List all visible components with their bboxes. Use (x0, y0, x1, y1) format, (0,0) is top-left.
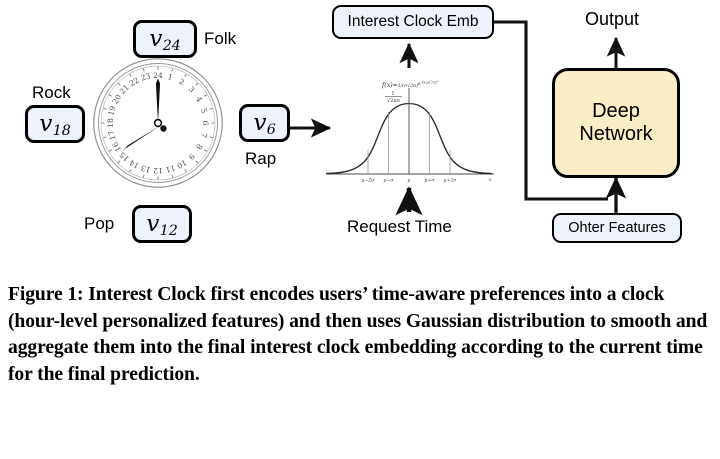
figure-caption: Figure 1: Interest Clock first encodes u… (8, 282, 712, 388)
other-features-label: Ohter Features (568, 221, 666, 236)
interest-clock-face: 123456789101112131415161718192021222324 (91, 56, 225, 190)
clock-hour-18: 18 (106, 118, 115, 128)
genre-label-rock: Rock (32, 84, 71, 101)
interest-clock-emb-label: Interest Clock Emb (348, 14, 479, 30)
genre-label-folk: Folk (204, 30, 236, 47)
gaussian-x-axis-label: x (489, 177, 492, 183)
deep-network-label-line2: Network (579, 123, 652, 146)
gaussian-tick-mu: μ (408, 179, 411, 184)
output-label: Output (585, 10, 639, 28)
figure-diagram: 123456789101112131415161718192021222324 … (0, 0, 720, 268)
interest-node-v24[interactable]: v24 (133, 20, 197, 58)
genre-label-pop: Pop (84, 215, 114, 232)
interest-node-v6[interactable]: v6 (239, 104, 290, 142)
gaussian-tick-plus-2-sigma: μ+2σ (444, 178, 458, 184)
interest-clock-emb-box[interactable]: Interest Clock Emb (332, 5, 494, 39)
interest-node-v18-symbol: v18 (39, 113, 70, 136)
clock-hour-6: 6 (201, 121, 210, 126)
clock-hour-12: 12 (153, 166, 163, 175)
clock-hour-24: 24 (153, 71, 163, 80)
gaussian-peak-denominator: √2πσ (387, 98, 401, 104)
interest-node-v12-symbol: v12 (146, 213, 177, 236)
gaussian-tick-plus-sigma: μ+σ (425, 178, 436, 184)
deep-network-label-line1: Deep (592, 100, 640, 123)
interest-node-v6-symbol: v6 (253, 112, 275, 135)
genre-label-rap: Rap (245, 150, 276, 167)
gaussian-distribution-plot: f(x)=1/(σ√2π)e-(x-μ)²/2σ² 1 √2πσ μ−2σ μ−… (318, 78, 500, 196)
request-time-label: Request Time (347, 218, 452, 235)
interest-node-v12[interactable]: v12 (132, 205, 192, 243)
other-features-box[interactable]: Ohter Features (552, 213, 682, 243)
interest-node-v18[interactable]: v18 (25, 105, 85, 143)
gaussian-tick-minus-sigma: μ−σ (384, 179, 395, 184)
gaussian-peak-numerator: 1 (391, 91, 394, 97)
gaussian-tick-minus-2-sigma: μ−2σ (362, 178, 376, 184)
gaussian-curve-label: f(x)=1/(σ√2π)e-(x-μ)²/2σ² (381, 80, 440, 89)
deep-network-box[interactable]: Deep Network (552, 68, 680, 178)
interest-node-v24-symbol: v24 (149, 28, 180, 51)
